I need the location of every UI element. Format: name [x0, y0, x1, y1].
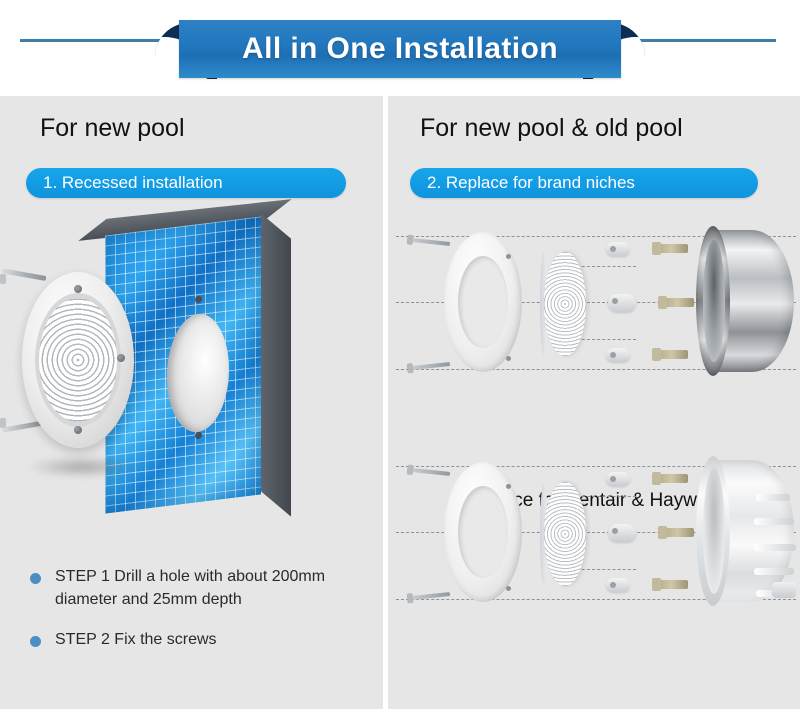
- bracket-bottom-icon: [606, 348, 630, 362]
- niche-rim: [696, 226, 730, 376]
- bracket-bottom-icon: [606, 578, 630, 592]
- led-pool-light: [22, 272, 134, 448]
- trim-ring: [444, 462, 522, 602]
- panels-container: For new pool 1. Recessed installation: [0, 96, 800, 709]
- trim-ring-screw-bottom-icon: [506, 586, 511, 591]
- white-plastic-niche: [696, 456, 794, 606]
- lamp-drop-shadow: [28, 456, 136, 478]
- lamp-screw-right-icon: [117, 354, 125, 362]
- step-1-text: STEP 1 Drill a hole with about 200mm dia…: [55, 566, 370, 611]
- bracket-middle-icon: [608, 524, 636, 542]
- list-item: STEP 1 Drill a hole with about 200mm dia…: [30, 566, 370, 611]
- trim-ring-screw-bottom-icon: [506, 356, 511, 361]
- right-step-pill: 2. Replace for brand niches: [410, 168, 758, 198]
- list-item: STEP 2 Fix the screws: [30, 629, 370, 652]
- header-banner: All in One Installation: [0, 0, 800, 96]
- lamp-inner-ring: [35, 293, 121, 427]
- niche-fin-icon: [756, 494, 790, 501]
- niche-rim: [696, 456, 730, 606]
- bracket-top-icon: [606, 242, 630, 256]
- trim-ring: [444, 232, 522, 372]
- long-screw-top-icon: [412, 468, 450, 476]
- bracket-top-icon: [606, 472, 630, 486]
- exploded-view-pentair-hayward: [396, 214, 796, 389]
- infographic-page: All in One Installation For new pool 1. …: [0, 0, 800, 709]
- wall-side-face: [261, 213, 291, 516]
- panel-new-pool: For new pool 1. Recessed installation: [0, 96, 383, 709]
- lamp-screw-top-icon: [74, 285, 82, 293]
- niche-fin-icon: [754, 518, 794, 525]
- left-step-pill: 1. Recessed installation: [26, 168, 346, 198]
- lamp-bolt-top-icon: [2, 268, 46, 281]
- ribbon: All in One Installation: [155, 20, 645, 90]
- bullet-dot-icon: [30, 636, 41, 647]
- hex-bolt-top-icon: [658, 244, 688, 253]
- hex-bolt-bottom-icon: [658, 580, 688, 589]
- recessed-installation-artwork: [0, 214, 383, 554]
- trim-ring-screw-top-icon: [506, 484, 511, 489]
- hex-bolt-top-icon: [658, 474, 688, 483]
- steps-list: STEP 1 Drill a hole with about 200mm dia…: [30, 566, 370, 670]
- banner-title: All in One Installation: [179, 20, 621, 78]
- niche-fin-icon: [754, 568, 794, 575]
- panel-replace-niches: For new pool & old pool 2. Replace for b…: [388, 96, 800, 709]
- niche-fin-icon: [754, 544, 796, 551]
- hex-bolt-middle-icon: [664, 298, 694, 307]
- hex-bolt-middle-icon: [664, 528, 694, 537]
- ribbon-body: All in One Installation: [179, 20, 621, 78]
- lamp-led-lens: [39, 298, 117, 422]
- step-2-text: STEP 2 Fix the screws: [55, 629, 217, 652]
- long-screw-top-icon: [412, 238, 450, 246]
- hex-bolt-bottom-icon: [658, 350, 688, 359]
- lamp-screw-bottom-icon: [74, 426, 82, 434]
- led-lens-disc: [544, 482, 586, 586]
- lamp-bolt-head-top-icon: [0, 274, 6, 284]
- led-lens-disc: [544, 252, 586, 356]
- stainless-steel-niche: [696, 226, 794, 376]
- bracket-middle-icon: [608, 294, 636, 312]
- left-panel-heading: For new pool: [40, 114, 185, 143]
- trim-ring-screw-top-icon: [506, 254, 511, 259]
- exploded-view-astralpool: [396, 444, 796, 619]
- niche-conduit-icon: [772, 582, 796, 598]
- bullet-dot-icon: [30, 573, 41, 584]
- right-panel-heading: For new pool & old pool: [420, 114, 683, 143]
